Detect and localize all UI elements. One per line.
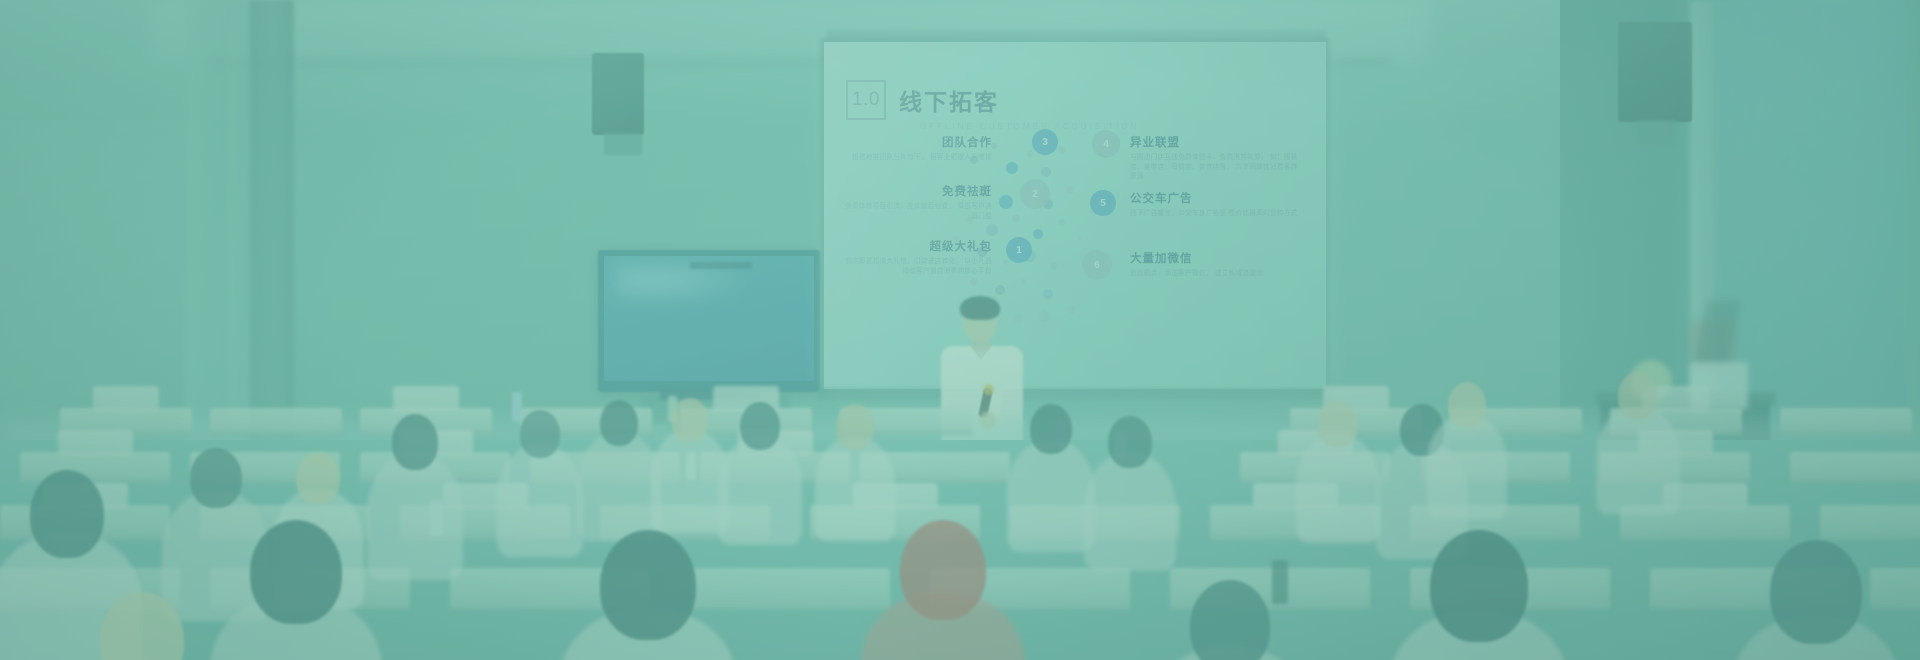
slide-dot [1050, 262, 1058, 270]
audience-head [1430, 530, 1528, 642]
slide-dot [1059, 219, 1065, 225]
water-bottle [1272, 560, 1288, 604]
audience-head [1108, 416, 1152, 468]
slide-item-title: 免费祛斑 [842, 183, 992, 199]
slide-bubble-4: 4 [1092, 130, 1120, 158]
slide-dot [1077, 235, 1083, 241]
slide-bubble-6: 6 [1082, 250, 1112, 280]
slide-number-badge: 1.0 [846, 80, 886, 120]
audience-head [1448, 382, 1486, 428]
chair [58, 430, 133, 456]
hero-banner: 1.0 线下拓客 OFFLINE CUSTOMER ACQUISITION 团队… [0, 0, 1920, 660]
desk-edge [1820, 536, 1920, 541]
audience-head [1618, 372, 1658, 420]
desk [1870, 568, 1920, 608]
slide-dot [1033, 229, 1043, 239]
desk-edge [1790, 479, 1920, 484]
slide-item-desc: 线下广告覆盖，公交车身广告是 性价比最高的宣传方式 [1130, 209, 1298, 219]
desk [20, 452, 170, 482]
speaker-bracket-right [1636, 120, 1676, 146]
presenter-hair [960, 296, 1000, 320]
slide-dot [1041, 167, 1051, 177]
audience-body [1427, 415, 1507, 519]
chair [393, 386, 459, 412]
audience-head [600, 400, 638, 446]
slide-dot [999, 195, 1013, 209]
slide-bubble-2: 2 [1020, 179, 1050, 209]
slide-header: 1.0 线下拓客 [846, 80, 999, 120]
desk-edge [690, 605, 890, 610]
audience-head [1030, 404, 1072, 454]
desk [1820, 505, 1920, 539]
audience-body [1084, 453, 1176, 571]
chair [93, 386, 159, 412]
slide-dot [1021, 279, 1027, 285]
slide-item-desc: 到店即送超值大礼包，引流进店转化， 以小礼品撬动客户到店消费的核心手段 [842, 257, 992, 276]
slide-item-title: 大量加微信 [1130, 250, 1298, 266]
slide-item-title: 公交车广告 [1130, 190, 1298, 206]
slide-dot [1006, 162, 1018, 174]
slide-dot [970, 278, 978, 286]
slide-dot [1068, 306, 1076, 314]
audience-body [1007, 440, 1095, 552]
slide-item-team-cooperation: 团队合作 组建地推团队分片包干， 拓客业绩按人头考核 [842, 134, 992, 163]
wall-column [250, 0, 294, 470]
audience-head [190, 448, 242, 508]
audience-head [672, 398, 708, 442]
slide-dot [1012, 214, 1020, 222]
slide-item-desc: 创造机会，添加客户微信， 建立私域流量池 [1130, 269, 1298, 279]
water-bottle [512, 392, 522, 422]
slide-item-super-gift-pack: 超级大礼包 到店即送超值大礼包，引流进店转化， 以小礼品撬动客户到店消费的核心手… [842, 238, 992, 276]
slide-item-title: 团队合作 [842, 134, 992, 150]
audience-head [836, 404, 874, 450]
audience-head [1770, 540, 1862, 644]
desk-edge [1780, 431, 1912, 436]
desk [1790, 452, 1920, 482]
slide-dot [1003, 259, 1009, 265]
slide-dot [986, 224, 998, 236]
audience-head [250, 520, 342, 624]
audience-head [30, 470, 104, 558]
ceiling-speaker-left [592, 53, 644, 135]
slide-item-title: 异业联盟 [1130, 134, 1298, 150]
slide-item-title: 超级大礼包 [842, 238, 992, 254]
slide-item-free-treatment: 免费祛斑 免费体验项目引流，先体验后付费， 降低客户决策门槛 [842, 183, 992, 221]
tv-brand-logo [690, 262, 752, 269]
slide-bubble-5: 5 [1090, 190, 1116, 216]
slide-dot [1027, 151, 1033, 157]
audience-head [740, 402, 780, 450]
audience-head [296, 452, 340, 504]
slide-dot [995, 285, 1005, 295]
audience-body [577, 433, 661, 541]
slide-dot [1058, 146, 1066, 154]
desk [690, 568, 890, 608]
desk-edge [210, 431, 342, 436]
audience-head [1318, 400, 1358, 448]
slide-bubble-3: 3 [1032, 129, 1058, 155]
slide-bubble-1: 1 [1006, 237, 1032, 263]
audience-head [520, 410, 560, 458]
audience-head [900, 520, 986, 620]
slide-dot [1066, 186, 1074, 194]
audience-head [392, 414, 438, 470]
slide-item-desc: 免费体验项目引流，先体验后付费， 降低客户决策门槛 [842, 202, 992, 221]
audience-head [600, 530, 696, 640]
audience-body [815, 437, 895, 541]
slide-dot [1043, 289, 1053, 299]
slide-item-bus-advertising: 公交车广告 线下广告覆盖，公交车身广告是 性价比最高的宣传方式 [1130, 190, 1298, 219]
presentation-slide: 1.0 线下拓客 OFFLINE CUSTOMER ACQUISITION 团队… [824, 42, 1326, 389]
slide-item-add-wechat: 大量加微信 创造机会，添加客户微信， 建立私域流量池 [1130, 250, 1298, 279]
slide-item-cross-industry-alliance: 异业联盟 与周边门店互送免费体验卡、免费洗剪吹券， 如：服装店、美甲店、母婴店、… [1130, 134, 1298, 182]
audience-body [497, 445, 583, 557]
audience-body [367, 454, 463, 580]
ceiling-speaker-right [1618, 22, 1692, 122]
audience-body [1296, 435, 1380, 543]
desk-edge [1870, 605, 1920, 610]
screen-bottom-bar [818, 388, 1334, 400]
slide-item-desc: 与周边门店互送免费体验卡、免费洗剪吹券， 如：服装店、美甲店、母婴店、茶饮店等，… [1130, 153, 1298, 182]
desk-edge [1620, 536, 1790, 541]
slide-item-desc: 组建地推团队分片包干， 拓客业绩按人头考核 [842, 153, 992, 163]
audience-body [1596, 407, 1680, 515]
microphone-head [983, 384, 994, 395]
audience-body [718, 437, 802, 545]
slide-title: 线下拓客 [899, 83, 999, 117]
speaker-bracket-left [604, 133, 642, 155]
